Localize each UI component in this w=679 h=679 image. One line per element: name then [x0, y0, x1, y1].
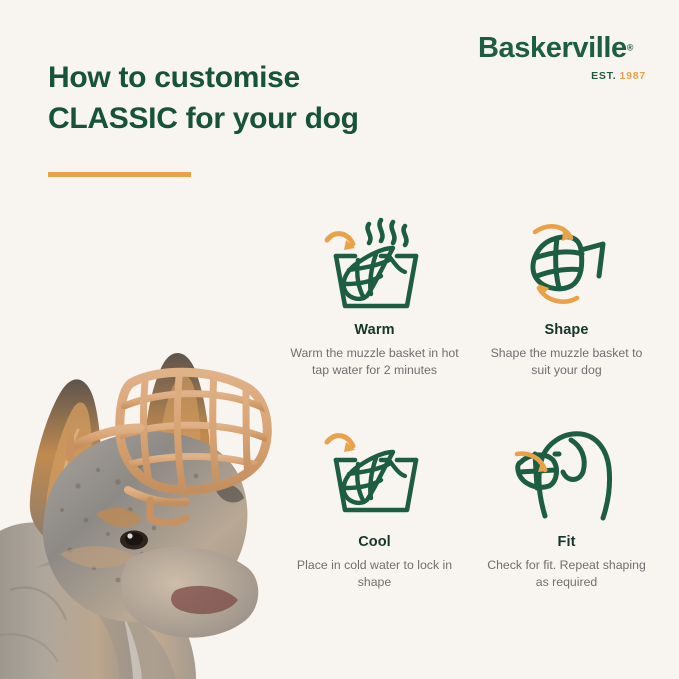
- step-fit-icon-wrap: [474, 420, 659, 532]
- step-fit: Fit Check for fit. Repeat shaping as req…: [474, 420, 659, 592]
- dog-photo: [0, 238, 300, 679]
- page-title-line-1: How to customise: [48, 58, 428, 99]
- step-warm-icon-wrap: [282, 208, 467, 320]
- basin-cold-water-icon: [319, 426, 431, 526]
- infographic-page: Baskerville® EST.1987 How to customise C…: [0, 0, 679, 679]
- registered-trademark-icon: ®: [627, 43, 634, 53]
- logo-established-row: EST.1987: [478, 67, 646, 83]
- muzzle-shaping-arrows-icon: [511, 210, 623, 318]
- steps-grid: Warm Warm the muzzle basket in hot tap w…: [282, 208, 679, 608]
- step-shape-title: Shape: [474, 322, 659, 338]
- step-warm-title: Warm: [282, 322, 467, 338]
- dog-eye: [120, 531, 148, 550]
- step-fit-description: Check for fit. Repeat shaping as require…: [474, 557, 659, 592]
- step-cool: Cool Place in cold water to lock in shap…: [282, 420, 467, 592]
- page-title-line-2: CLASSIC for your dog: [48, 99, 428, 140]
- orange-arrow-icon: [327, 436, 355, 452]
- step-shape-description: Shape the muzzle basket to suit your dog: [474, 345, 659, 380]
- basin-with-steam-icon: [319, 210, 431, 318]
- step-shape: Shape Shape the muzzle basket to suit yo…: [474, 208, 659, 380]
- step-cool-icon-wrap: [282, 420, 467, 532]
- title-underline-rule: [48, 172, 191, 177]
- step-warm-description: Warm the muzzle basket in hot tap water …: [282, 345, 467, 380]
- step-warm: Warm Warm the muzzle basket in hot tap w…: [282, 208, 467, 380]
- step-cool-title: Cool: [282, 534, 467, 550]
- step-shape-icon-wrap: [474, 208, 659, 320]
- brand-logo: Baskerville® EST.1987: [478, 34, 650, 83]
- logo-est-year: 1987: [619, 70, 646, 82]
- logo-est-label: EST.: [591, 70, 616, 82]
- logo-wordmark: Baskerville: [478, 34, 627, 63]
- dog-head-with-muzzle-icon: [511, 426, 623, 526]
- orange-arrow-icon: [327, 234, 355, 250]
- page-title: How to customise CLASSIC for your dog: [48, 58, 428, 139]
- step-fit-title: Fit: [474, 534, 659, 550]
- step-cool-description: Place in cold water to lock in shape: [282, 557, 467, 592]
